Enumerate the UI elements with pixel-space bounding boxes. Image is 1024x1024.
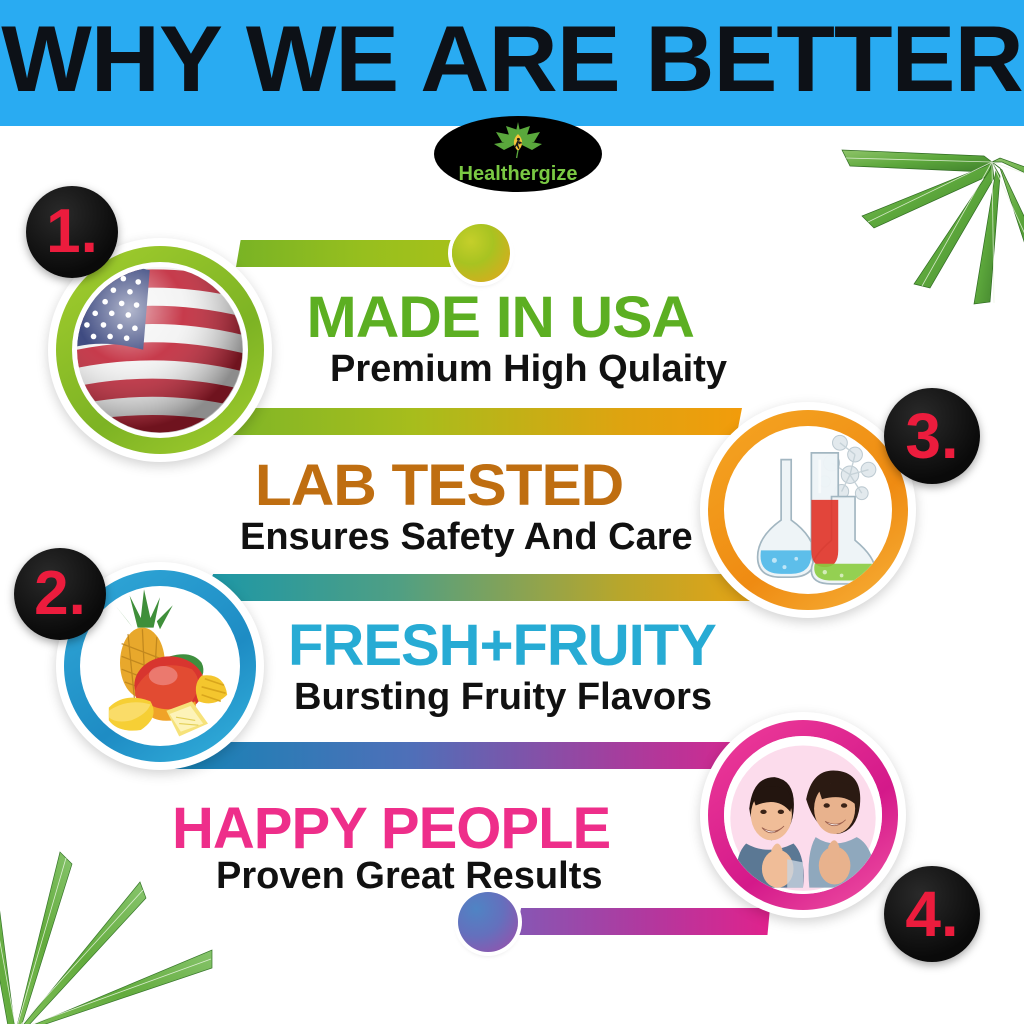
laboratory-flasks-icon bbox=[724, 426, 892, 594]
connector-bar-made-in-usa bbox=[236, 240, 468, 267]
badge-number-2: 2. bbox=[14, 548, 106, 640]
feature-subtitle-made-in-usa: Premium High Qulaity bbox=[330, 348, 727, 391]
badge-number-3: 3. bbox=[884, 388, 980, 484]
badge-number-4: 4. bbox=[884, 866, 980, 962]
feature-title-happy-people: HAPPY PEOPLE bbox=[172, 795, 610, 862]
medallion-inner-made-in-usa bbox=[72, 262, 248, 438]
badge-number-1: 1. bbox=[26, 186, 118, 278]
medallion-inner-lab-tested bbox=[724, 426, 892, 594]
connector-dot-made-in-usa bbox=[452, 224, 510, 282]
badge-2-label: 2. bbox=[34, 563, 86, 625]
medallion-inner-fresh-fruity bbox=[80, 586, 240, 746]
header-band: WHY WE ARE BETTER bbox=[0, 0, 1024, 126]
feature-title-lab-tested: LAB TESTED bbox=[255, 452, 623, 519]
medallion-happy-people bbox=[700, 712, 906, 918]
feature-subtitle-happy-people: Proven Great Results bbox=[216, 855, 602, 898]
connector-bar-lab-tested bbox=[212, 408, 742, 435]
connector-dot-bottom bbox=[458, 892, 518, 952]
medallion-inner-happy-people bbox=[724, 736, 882, 894]
brand-logo: Healthergize bbox=[434, 116, 602, 192]
happy-couple-thumbs-up-icon bbox=[724, 736, 882, 894]
page-title: WHY WE ARE BETTER bbox=[0, 0, 1024, 126]
badge-1-label: 1. bbox=[46, 201, 98, 263]
connector-bar-happy-people bbox=[172, 742, 772, 769]
infographic-page: WHY WE ARE BETTER Healthergize bbox=[0, 0, 1024, 1024]
badge-4-label: 4. bbox=[905, 882, 958, 946]
feature-title-fresh-fruity: FRESH+FRUITY bbox=[288, 612, 716, 679]
feature-subtitle-fresh-fruity: Bursting Fruity Flavors bbox=[294, 676, 712, 719]
cannabis-leaf-top-right-icon bbox=[824, 126, 1024, 336]
feature-title-made-in-usa: MADE IN USA bbox=[307, 284, 694, 351]
cannabis-leaf-with-runner-icon bbox=[490, 120, 546, 160]
usa-flag-sphere-icon bbox=[77, 267, 242, 432]
connector-bar-bottom bbox=[516, 908, 770, 935]
tropical-fruit-plate-icon bbox=[80, 586, 240, 746]
connector-bar-fresh-fruity bbox=[202, 574, 758, 601]
brand-name: Healthergize bbox=[434, 163, 602, 186]
badge-3-label: 3. bbox=[905, 404, 958, 468]
feature-subtitle-lab-tested: Ensures Safety And Care bbox=[240, 516, 693, 559]
